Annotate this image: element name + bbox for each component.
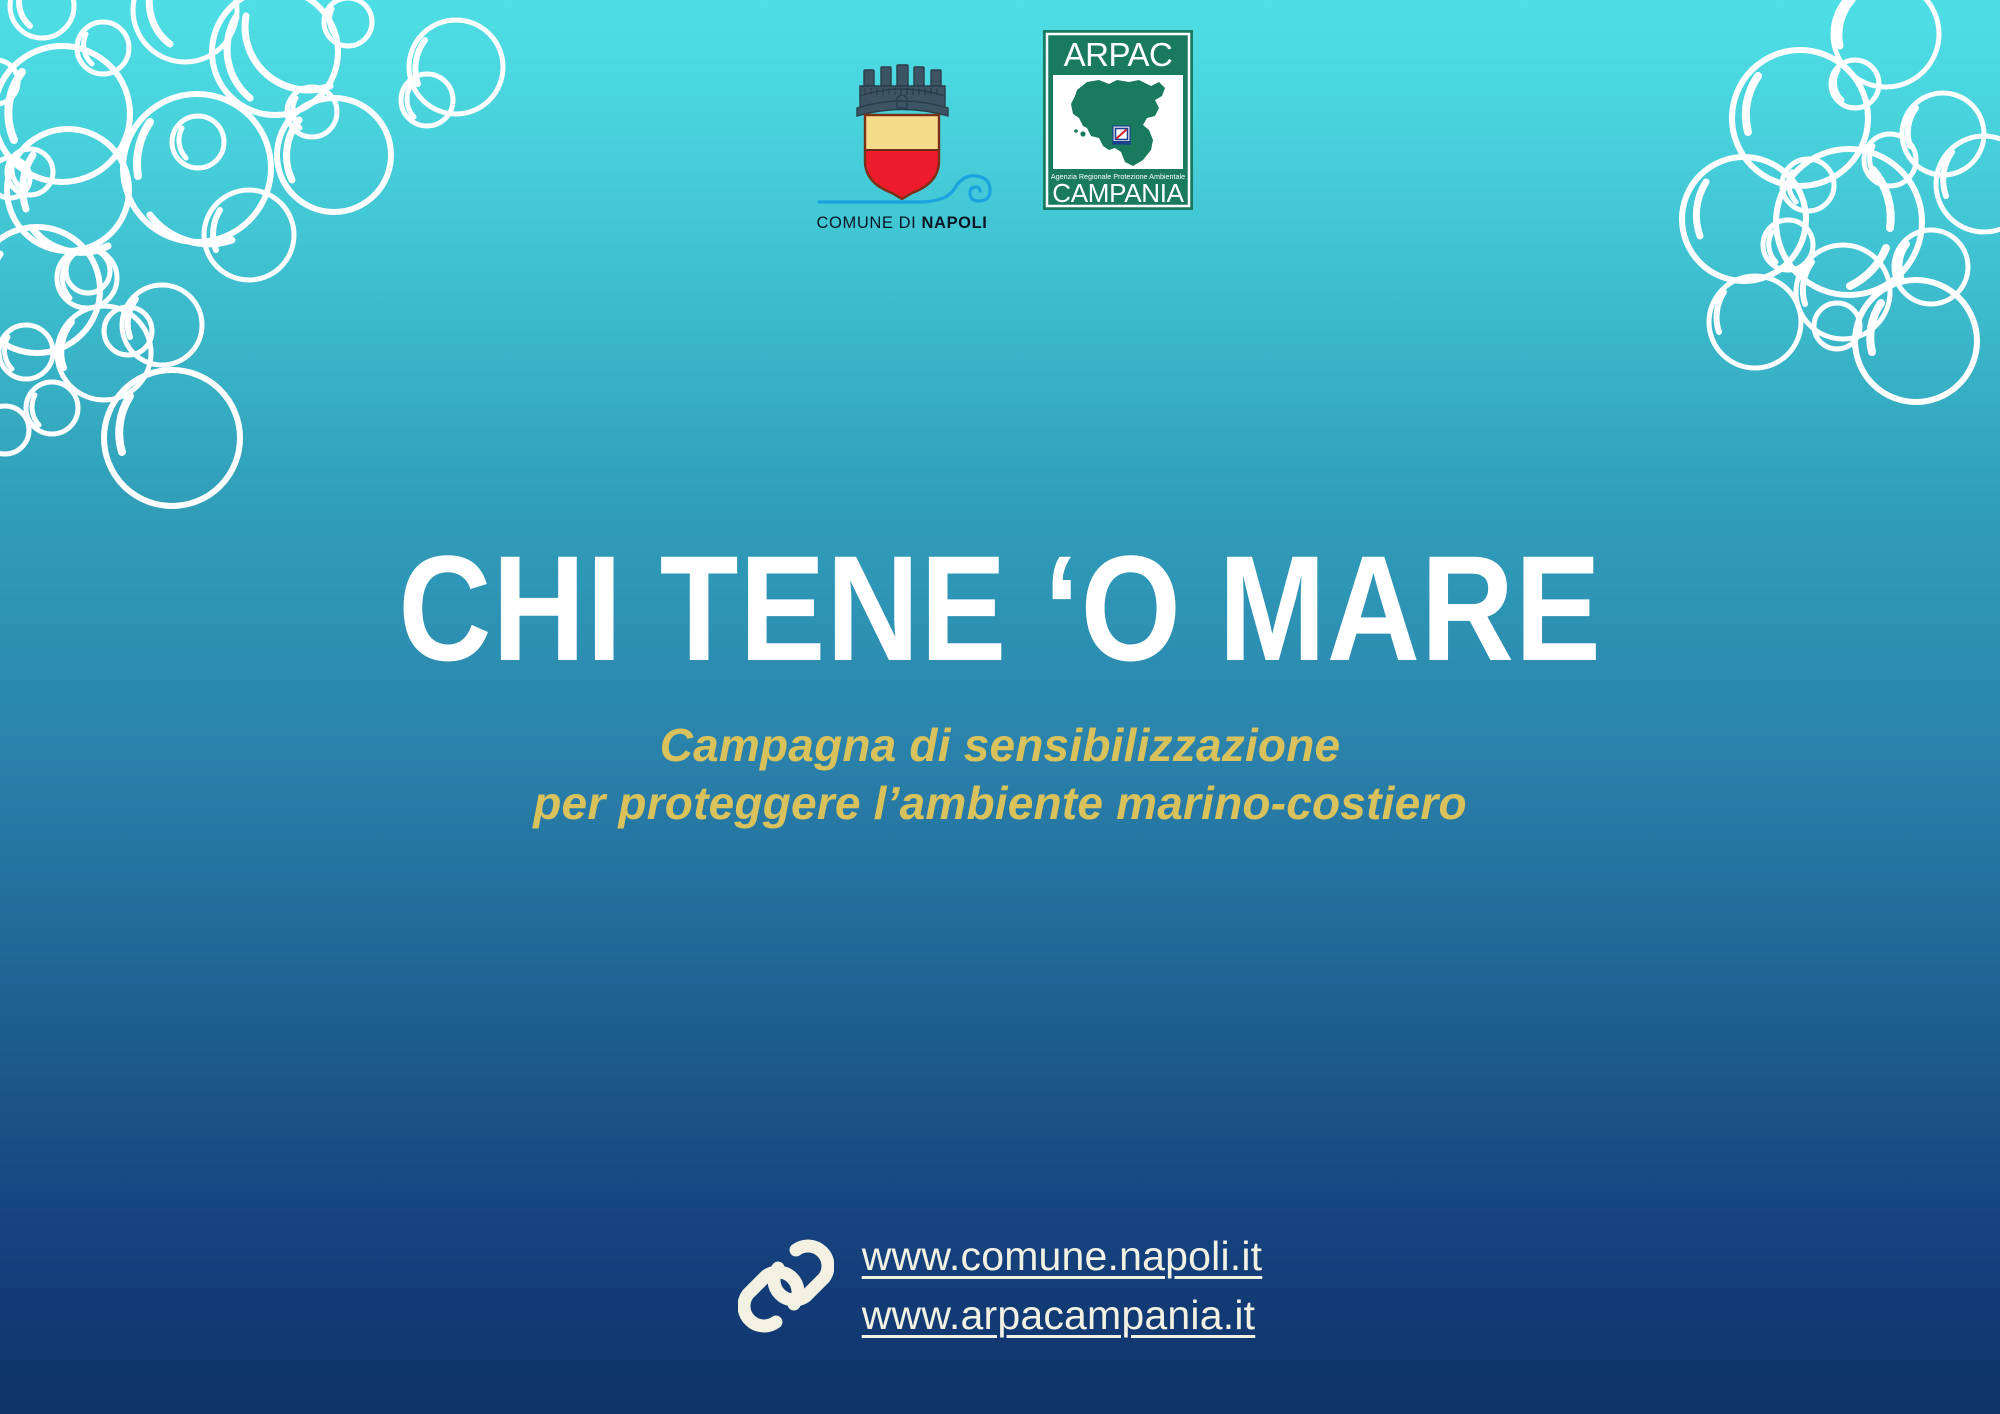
link-arpacampania[interactable]: www.arpacampania.it xyxy=(862,1292,1263,1339)
napoli-coat-of-arms-icon xyxy=(807,30,997,220)
poster-canvas: COMUNE DI NAPOLI ARPAC xyxy=(0,0,2000,1414)
logo-arpac: ARPAC Agenzia Regionale Protezione Ambie… xyxy=(1043,30,1193,210)
subtitle-line-1: Campagna di sensibilizzazione xyxy=(0,716,2000,774)
link-comune-napoli[interactable]: www.comune.napoli.it xyxy=(862,1233,1263,1280)
subtitle-line-2: per proteggere l’ambiente marino-costier… xyxy=(0,774,2000,832)
page-subtitle: Campagna di sensibilizzazione per proteg… xyxy=(0,716,2000,833)
arpac-acronym-text: ARPAC xyxy=(1064,36,1173,73)
page-title: CHI TENE ‘O MARE xyxy=(140,533,1860,683)
links-block: www.comune.napoli.it www.arpacampania.it xyxy=(0,1230,2000,1342)
logo-comune-di-napoli: COMUNE DI NAPOLI xyxy=(807,30,997,233)
arpac-region-text: CAMPANIA xyxy=(1052,178,1184,208)
link-list: www.comune.napoli.it www.arpacampania.it xyxy=(862,1233,1263,1339)
chain-link-icon xyxy=(738,1230,834,1342)
logo-row: COMUNE DI NAPOLI ARPAC xyxy=(0,30,2000,233)
